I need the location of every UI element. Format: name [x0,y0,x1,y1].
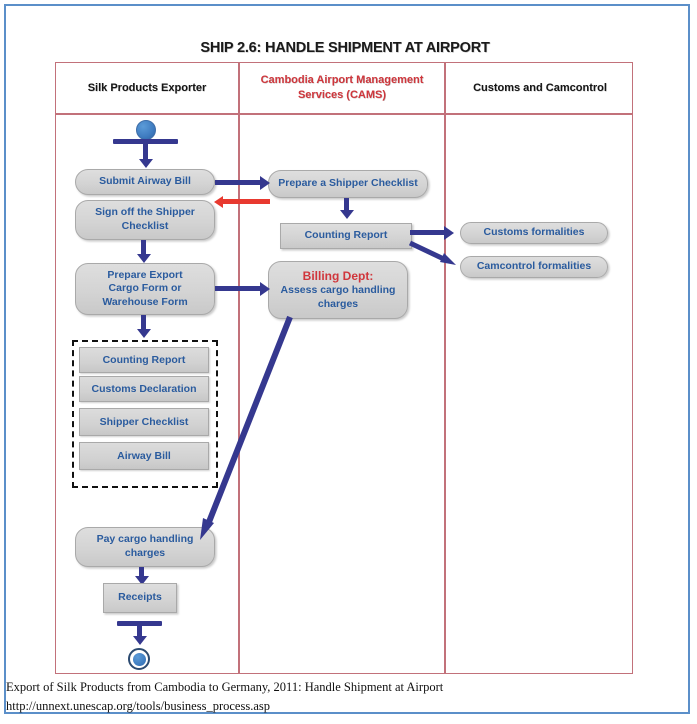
doc-item-shipper-checklist[interactable]: Shipper Checklist [79,408,209,436]
lane-header-rule [56,113,632,115]
node-label-line1: Sign off the Shipper [95,206,195,220]
end-node-inner [133,653,146,666]
node-receipts[interactable]: Receipts [103,583,177,613]
connector-submit-to-prepare-checklist [215,180,263,185]
document-group: Counting Report Customs Declaration Ship… [72,340,218,488]
arrow-export-to-billing [260,282,270,296]
doc-item-customs-declaration[interactable]: Customs Declaration [79,376,209,402]
lane-header-cams: Cambodia Airport Management Services (CA… [240,63,444,113]
lane-header-exporter: Silk Products Exporter [56,63,238,113]
arrow-submit-to-prepare-checklist [260,176,270,190]
node-label-title: Billing Dept: [303,269,374,285]
node-label-line2: charges [125,547,165,561]
node-label: Customs formalities [484,226,585,240]
connector-checklist-to-signoff [223,199,270,204]
node-counting-report[interactable]: Counting Report [280,223,412,249]
node-customs-formalities[interactable]: Customs formalities [460,222,608,244]
node-label-line2: Cargo Form or [109,282,182,296]
node-label: Receipts [118,591,162,605]
lane-divider-2 [444,63,446,673]
node-submit-airway-bill[interactable]: Submit Airway Bill [75,169,215,195]
connector-export-to-billing [215,286,263,291]
node-camcontrol-formalities[interactable]: Camcontrol formalities [460,256,608,278]
node-label: Prepare a Shipper Checklist [278,177,417,191]
node-billing-dept[interactable]: Billing Dept: Assess cargo handling char… [268,261,408,319]
caption: Export of Silk Products from Cambodia to… [6,678,566,717]
arrow-checklist-to-counting [340,210,354,219]
arrow-signoff-to-prepare [137,254,151,263]
node-label-line2: Checklist [122,220,169,234]
node-label-line1: Pay cargo handling [97,533,194,547]
node-prepare-a-shipper-checklist[interactable]: Prepare a Shipper Checklist [268,170,428,198]
doc-item-airway-bill[interactable]: Airway Bill [79,442,209,470]
flowchart-diagram: SHIP 2.6: HANDLE SHIPMENT AT AIRPORT Sil… [0,0,697,724]
caption-line-2: http://unnext.unescap.org/tools/business… [6,697,566,716]
node-label: Camcontrol formalities [477,260,591,274]
lane-header-customs: Customs and Camcontrol [446,63,634,113]
node-label-line1: Assess cargo handling [281,284,396,298]
node-pay-cargo-handling-charges[interactable]: Pay cargo handling charges [75,527,215,567]
connector-counting-to-customs [410,230,448,235]
node-prepare-export-cargo-form[interactable]: Prepare Export Cargo Form or Warehouse F… [75,263,215,315]
node-label: Submit Airway Bill [99,175,191,189]
arrow-checklist-to-signoff [214,196,223,208]
node-sign-off-shipper-checklist[interactable]: Sign off the Shipper Checklist [75,200,215,240]
node-label-line3: Warehouse Form [102,296,187,310]
start-node-circle [136,120,156,140]
arrow-receipts-to-end [133,636,147,645]
page-title: SHIP 2.6: HANDLE SHIPMENT AT AIRPORT [55,40,635,56]
lane-divider-1 [238,63,240,673]
node-label: Counting Report [305,229,388,243]
node-label-line1: Prepare Export [107,269,182,283]
arrow-counting-to-customs [444,226,454,240]
doc-item-counting-report[interactable]: Counting Report [79,347,209,373]
arrow-prepare-to-docs [137,329,151,338]
node-label-line2: charges [318,298,358,312]
arrow-start-to-submit [139,159,153,168]
caption-line-1: Export of Silk Products from Cambodia to… [6,678,566,697]
